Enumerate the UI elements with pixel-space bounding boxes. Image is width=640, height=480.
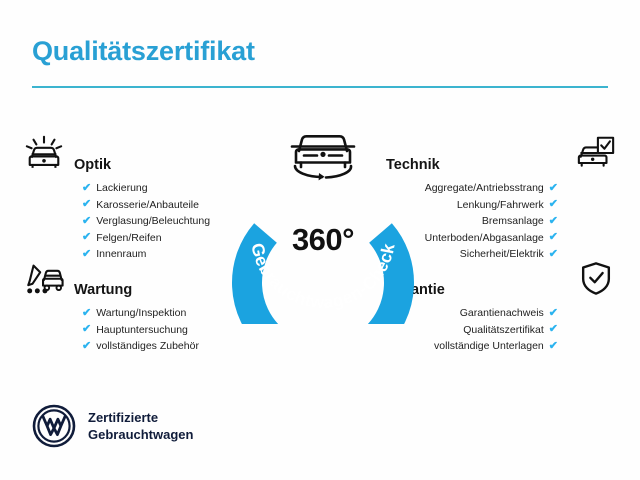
section-optik: Optik ✔Lackierung ✔Karosserie/Anbauteile… (20, 130, 260, 263)
check-icon: ✔ (549, 183, 558, 194)
check-icon: ✔ (82, 183, 91, 194)
list-item-label: Verglasung/Beleuchtung (96, 213, 210, 230)
list-item: ✔vollständige Unterlagen (380, 338, 620, 355)
footer-line-2: Gebrauchtwagen (88, 426, 193, 443)
list-item-label: vollständige Unterlagen (434, 338, 544, 355)
list-item-label: Lackierung (96, 180, 147, 197)
page-title: Qualitätszertifikat (32, 36, 255, 67)
check-icon: ✔ (82, 308, 91, 319)
list-item: ✔vollständiges Zubehör (20, 338, 260, 355)
list-item-label: Hauptuntersuchung (96, 322, 188, 339)
shield-check-icon (572, 257, 620, 299)
list-item: ✔Felgen/Reifen (20, 230, 260, 247)
list-item: ✔Lackierung (20, 180, 260, 197)
badge-center-label: 360° (228, 222, 418, 258)
list-item-label: Garantienachweis (460, 305, 544, 322)
section-title-optik: Optik (74, 157, 111, 173)
check-icon: ✔ (82, 324, 91, 335)
check-icon: ✔ (82, 232, 91, 243)
check-icon: ✔ (82, 216, 91, 227)
vw-roundel-logo (32, 404, 76, 448)
check-icon: ✔ (82, 199, 91, 210)
check-icon: ✔ (549, 308, 558, 319)
check-icon: ✔ (549, 199, 558, 210)
section-wartung: Wartung ✔Wartung/Inspektion ✔Hauptunters… (20, 255, 260, 355)
checklist-wartung: ✔Wartung/Inspektion ✔Hauptuntersuchung ✔… (20, 305, 260, 355)
check-icon: ✔ (549, 324, 558, 335)
car-checkbox-icon (572, 132, 620, 174)
car-shine-icon (20, 132, 68, 174)
list-item-label: Lenkung/Fahrwerk (457, 197, 544, 214)
car-service-pen-icon (20, 257, 68, 299)
check-icon: ✔ (549, 216, 558, 227)
badge-360-gebrauchtwagen-check: Gebrauchtwagen-Check (228, 118, 418, 324)
footer-line-1: Zertifizierte (88, 409, 193, 426)
list-item: ✔Verglasung/Beleuchtung (20, 213, 260, 230)
list-item-label: Qualitätszertifikat (463, 322, 544, 339)
footer-logo-text: Zertifizierte Gebrauchtwagen (88, 409, 193, 443)
list-item-label: vollständiges Zubehör (96, 338, 199, 355)
list-item-label: Unterboden/Abgasanlage (425, 230, 544, 247)
checklist-optik: ✔Lackierung ✔Karosserie/Anbauteile ✔Verg… (20, 180, 260, 263)
list-item-label: Bremsanlage (482, 213, 544, 230)
list-item: ✔Wartung/Inspektion (20, 305, 260, 322)
list-item: ✔Karosserie/Anbauteile (20, 197, 260, 214)
title-divider (32, 86, 608, 88)
list-item-label: Wartung/Inspektion (96, 305, 186, 322)
footer-logo-block: Zertifizierte Gebrauchtwagen (32, 404, 193, 448)
list-item-label: Aggregate/Antriebsstrang (425, 180, 544, 197)
list-item: ✔Hauptuntersuchung (20, 322, 260, 339)
check-icon: ✔ (82, 341, 91, 352)
list-item-label: Karosserie/Anbauteile (96, 197, 199, 214)
certificate-page: Qualitätszertifikat (0, 0, 640, 480)
check-icon: ✔ (549, 232, 558, 243)
list-item-label: Felgen/Reifen (96, 230, 161, 247)
check-icon: ✔ (549, 341, 558, 352)
section-title-wartung: Wartung (74, 282, 132, 298)
